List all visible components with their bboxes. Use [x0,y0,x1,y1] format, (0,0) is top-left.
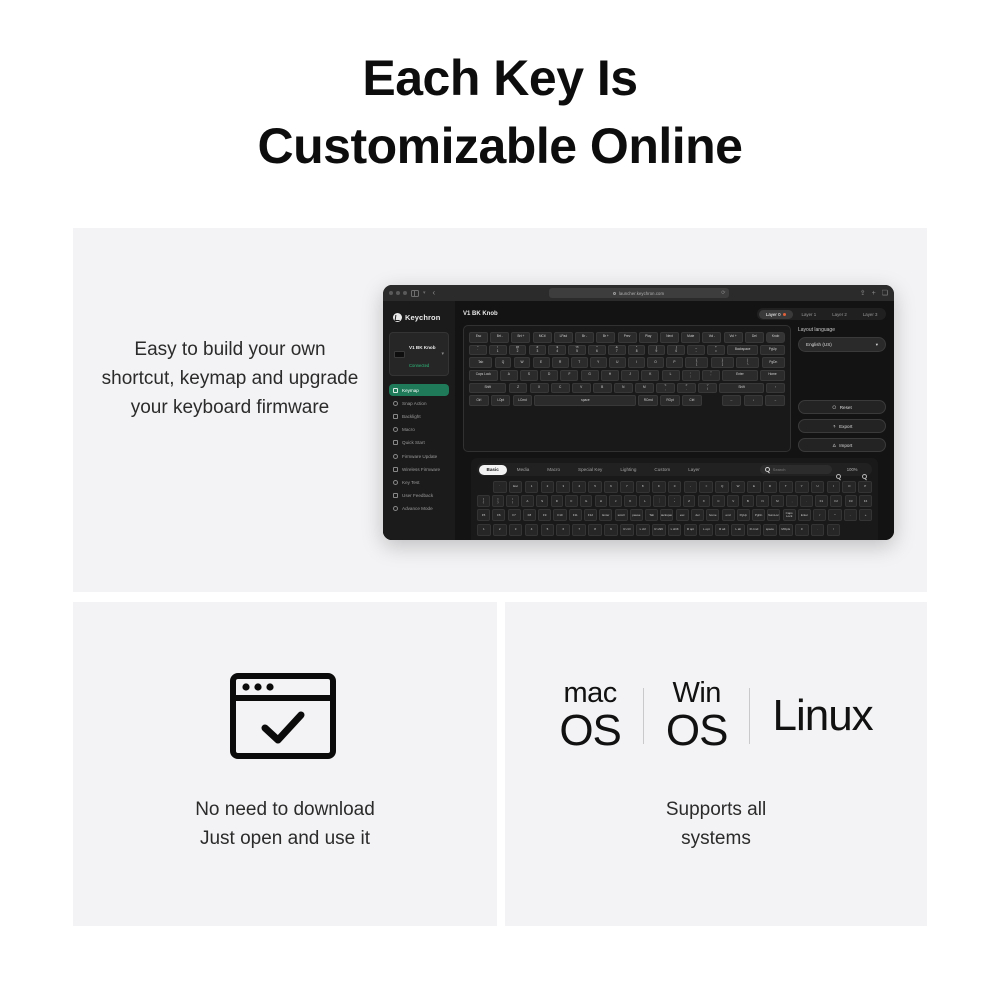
key-legend: Q [721,485,723,488]
key-picker-key[interactable]: U [811,481,825,493]
key-legend: Br - [582,335,587,339]
key-picker-key[interactable]: E [747,481,761,493]
key-picker-key[interactable]: Tab [645,509,658,521]
keyboard-key[interactable]: Home [760,370,785,381]
brand-name: Keychron [405,313,440,322]
refresh-icon[interactable]: ⟳ [721,290,725,296]
layer-tab-label: Layer 0 [766,312,781,317]
key-legend: 7 [626,485,628,488]
key-picker-key[interactable]: G [580,495,593,507]
key-picker-key[interactable]: . [811,524,825,536]
brand: Keychron [389,309,449,330]
key-picker-key[interactable]: 1 [477,524,491,536]
page-title-line2: Customizable Online [0,112,1000,180]
keyboard-key[interactable]: Brt - [490,332,509,343]
keyboard-key[interactable]: S [520,370,538,381]
key-picker-key[interactable]: F1 [815,495,828,507]
key-picker-tab-lighting[interactable]: Lighting [612,465,644,475]
sidebar-item-label: Backlight [402,414,421,419]
key-legend: ' [711,375,712,379]
sidebar-item-firmware-update[interactable]: Firmware Update [389,450,449,462]
keyboard-key[interactable]: ↓ [744,395,764,406]
key-picker-key[interactable]: 0 [795,524,809,536]
keyboard-key[interactable]: ^6 [588,345,606,356]
key-picker-key[interactable]: scroll [615,509,628,521]
key-legend: | [512,501,513,504]
key-picker-key[interactable]: F7 [508,509,521,521]
key-picker-key[interactable]: / [813,509,826,521]
key-legend: F10 [557,514,562,517]
keyboard-key[interactable]: W [514,357,531,368]
key-picker-key[interactable]: A [521,495,534,507]
keyboard-key[interactable]: _- [687,345,705,356]
key-picker-key[interactable]: Q [715,481,729,493]
keyboard-key[interactable]: !1 [489,345,507,356]
key-picker-key[interactable]: D [551,495,564,507]
key-legend: D [548,373,550,377]
sidebar-item-label: Macro [402,427,415,432]
caption-line: systems [505,824,927,853]
chevron-left-icon[interactable]: ‹ [433,289,436,297]
sidebar-item-advance-mode[interactable]: Advance Mode [389,503,449,515]
keyboard-key[interactable]: LPad [554,332,573,343]
keyboard-key[interactable]: Vol + [724,332,743,343]
key-legend: - [696,350,697,354]
key-picker-key[interactable]: O [842,481,856,493]
key-picker-key[interactable]: 5 [588,481,602,493]
key-picker-tab-media[interactable]: Media [509,465,538,475]
keyboard-key[interactable]: |\ [736,357,759,368]
key-picker-key[interactable]: C [712,495,725,507]
keyboard-key[interactable]: A [500,370,518,381]
key-picker-key[interactable]: 3 [556,481,570,493]
key-legend: 8 [594,528,596,531]
keyboard-key[interactable]: E [533,357,550,368]
key-picker-key[interactable]: , [786,495,799,507]
keyboard-key[interactable]: K [641,370,659,381]
key-picker-row: `Esc1234567890-=QWERTYUIOP [477,481,872,493]
zoom-in-icon[interactable] [862,466,869,473]
key-legend: I [833,485,834,488]
key-picker-key[interactable]: Enter [798,509,811,521]
keyboard-key[interactable]: C [551,383,570,394]
import-icon [832,443,837,448]
keyboard-key[interactable]: I [628,357,645,368]
key-picker-key[interactable]: . [800,495,813,507]
key-picker-key[interactable]: L alt [731,524,745,536]
key-picker-key[interactable]: F4 [859,495,872,507]
key-picker-key[interactable]: F8 [523,509,536,521]
layer-tab-0[interactable]: Layer 0 [759,310,793,319]
key-picker-key[interactable]: end [722,509,735,521]
wireless-icon [393,467,398,472]
key-picker-key[interactable]: R [763,481,777,493]
key-picker-key[interactable]: 1 [525,481,539,493]
traffic-lights[interactable] [389,291,407,295]
device-selector[interactable]: V1 BK Knob Connected ▾ [389,332,449,376]
layout-language-label: Layout language [798,327,886,333]
key-picker-key[interactable]: ]} [492,495,505,507]
reset-button[interactable]: Reset [798,400,886,414]
keyboard-key[interactable]: }] [711,357,734,368]
keyboard-key[interactable]: Del [745,332,764,343]
keyboard-key[interactable]: V [572,383,591,394]
key-picker-key[interactable]: - [684,481,698,493]
clock-icon [393,454,398,459]
key-picker-key[interactable]: MOpts [779,524,793,536]
key-picker-key[interactable]: L [639,495,652,507]
key-picker-key[interactable]: R shift [652,524,666,536]
key-picker-key[interactable]: 7 [572,524,586,536]
sidebar-icon[interactable] [411,290,419,297]
key-picker-key[interactable]: F10 [553,509,566,521]
layout-language-select[interactable]: English (US) ▾ [798,337,886,352]
key-picker-key[interactable]: T [779,481,793,493]
key-legend: / [707,388,708,392]
key-legend: { [483,501,484,504]
key-picker-key[interactable] [477,481,491,493]
key-legend: Ctrl [476,399,481,403]
keyboard-key[interactable]: G [581,370,599,381]
keyboard-key[interactable]: D [540,370,558,381]
keyboard-key[interactable]: "' [702,370,720,381]
key-picker-key[interactable]: - [844,509,857,521]
feature-card-os-support [505,602,927,926]
main-header: V1 BK Knob Layer 0Layer 1Layer 2Layer 3 [463,308,886,320]
tabs-icon[interactable]: ❏ [882,289,888,297]
key-picker-key[interactable]: F3 [845,495,858,507]
key-picker-key[interactable]: V [727,495,740,507]
sidebar-item-quick-start[interactable]: Quick Start [389,437,449,449]
key-legend: = [715,350,717,354]
layer-tab-1[interactable]: Layer 1 [795,310,824,319]
key-picker-key[interactable]: home [706,509,719,521]
keyboard-key[interactable]: Brt + [511,332,530,343]
keyboard-key[interactable]: MCtl [533,332,552,343]
key-legend: Enter [801,514,808,517]
key-legend: O [654,361,656,365]
key-picker-key[interactable]: Enter [599,509,612,521]
key-picker-key[interactable]: ` [493,481,507,493]
key-legend: F3 [849,500,853,503]
key-picker-key[interactable]: M [771,495,784,507]
key-legend: 6 [562,528,564,531]
key-picker-tab-special-key[interactable]: Special Key [570,465,610,475]
chevron-down-icon[interactable]: ▾ [441,351,444,357]
key-legend: K [649,373,651,377]
keyboard-key[interactable]: N [614,383,633,394]
key-legend: V [580,386,582,390]
keyboard-key[interactable]: X [530,383,549,394]
search-input[interactable]: Search [760,465,832,474]
keyboard-key[interactable]: Q [495,357,512,368]
key-picker-tab-custom[interactable]: Custom [646,465,678,475]
keyboard-key[interactable]: Enter [722,370,758,381]
key-legend: Shift [485,386,491,390]
key-picker-key[interactable]: 4 [572,481,586,493]
key-legend: , [665,388,666,392]
key-picker-key[interactable]: * [828,509,841,521]
keyboard-key[interactable]: Vol - [702,332,721,343]
key-legend: Mute [687,335,694,339]
keyboard-key[interactable]: Ctrl [469,395,489,406]
keyboard-key[interactable]: Br + [596,332,615,343]
key-legend: X [538,386,540,390]
keyboard-key[interactable]: space [534,395,636,406]
keyboard-key[interactable]: PgDn [762,357,785,368]
key-picker-key[interactable]: H [595,495,608,507]
key-legend: 8 [636,350,638,354]
address-bar[interactable]: launcher.keychron.com ⟳ [549,288,729,298]
key-legend: H [609,373,611,377]
import-button[interactable]: Import [798,438,886,452]
key-picker-key[interactable]: B [742,495,755,507]
key-legend: G [588,373,590,377]
key-picker-key[interactable]: N [756,495,769,507]
keyboard-key[interactable]: PgUp [760,345,784,356]
key-picker-key[interactable]: F2 [830,495,843,507]
key-picker-key[interactable]: R alt [715,524,729,536]
keyboard-key[interactable]: <, [656,383,675,394]
keyboard-row: EscBrt -Brt +MCtlLPadBr -Br +PrevPlayNex… [469,332,785,343]
key-legend: scroll [618,514,625,517]
key-picker-key[interactable]: R ctrl [620,524,634,536]
keyboard-key[interactable]: :; [682,370,700,381]
keyboard-key[interactable]: LCmd [513,395,533,406]
key-picker-key[interactable]: Z [683,495,696,507]
key-legend: R cmd [750,528,759,531]
key-legend: / [819,514,820,517]
key-picker-key[interactable]: \| [506,495,519,507]
sidebar-item-user-feedback[interactable]: User Feedback [389,490,449,502]
key-picker-key[interactable]: 2 [541,481,555,493]
export-button[interactable]: Export [798,419,886,433]
keyboard-key[interactable]: Z [509,383,528,394]
key-legend: Br + [603,335,609,339]
key-legend: O [848,485,850,488]
key-picker-key[interactable]: 2 [493,524,507,536]
layer-tab-2[interactable]: Layer 2 [825,310,854,319]
key-legend: MOpts [781,528,790,531]
key-picker-key[interactable]: K [624,495,637,507]
keyboard-key[interactable]: ← [722,395,742,406]
keyboard-key[interactable]: Play [639,332,658,343]
keyboard-key[interactable]: H [601,370,619,381]
keyboard-key[interactable]: Backspace [727,345,758,356]
key-picker-key[interactable]: 6 [556,524,570,536]
sidebar-item-backlight[interactable]: Backlight [389,410,449,422]
key-legend: ↓ [753,399,755,403]
key-picker-key[interactable]: 8 [588,524,602,536]
keyboard-key[interactable]: R [552,357,569,368]
key-picker-key[interactable]: 9 [604,524,618,536]
key-picker-key[interactable]: L opt [699,524,713,536]
key-picker-row: F5F6F7F8F9F10F11F12EnterscrollpauseTabBa… [477,509,872,521]
key-picker-key[interactable]: 3 [509,524,523,536]
key-picker-key[interactable]: P [858,481,872,493]
key-picker-key[interactable]: F12 [584,509,597,521]
key-legend: R ctrl [623,528,630,531]
caption-line: No need to download [73,795,497,824]
key-picker-key[interactable]: I [827,481,841,493]
snap-icon [393,401,398,406]
key-picker-key[interactable]: F5 [477,509,490,521]
keyboard-key[interactable]: Mute [681,332,700,343]
key-picker-key[interactable]: J [609,495,622,507]
keyboard-key[interactable]: P [666,357,683,368]
keyboard-key[interactable]: LOpt [491,395,511,406]
key-picker-key[interactable]: F11 [569,509,582,521]
key-legend: PgDn [755,514,763,517]
keyboard-key[interactable]: Esc [469,332,488,343]
key-picker-key[interactable]: F [565,495,578,507]
key-picker-key[interactable]: PgDn [752,509,765,521]
key-picker-grid[interactable]: `Esc1234567890-=QWERTYUIOP[{]}\|A SDFGHJ… [477,481,872,536]
key-picker-key[interactable]: R opt [684,524,698,536]
key-legend: C [717,500,719,503]
keyboard-key[interactable]: )0 [667,345,685,356]
keyboard-key[interactable]: $4 [548,345,566,356]
key-picker-key[interactable]: ;: [653,495,666,507]
key-legend: L [670,373,672,377]
keyboard-key[interactable]: &7 [608,345,626,356]
key-picker-key[interactable]: / [827,524,841,536]
key-picker-key[interactable]: PgUp [737,509,750,521]
key-picker-key[interactable]: S [536,495,549,507]
keyboard-key[interactable]: M [635,383,654,394]
keyboard-key[interactable]: *8 [628,345,646,356]
key-picker-key[interactable]: pause [630,509,643,521]
key-picker-key[interactable]: 6 [604,481,618,493]
keyboard-key[interactable]: F [560,370,578,381]
keyboard-row: Caps LockASDFGHJKL:;"'EnterHome [469,370,785,381]
divider [643,688,644,744]
zoom-icon[interactable] [403,291,407,295]
keyboard-key[interactable]: J [621,370,639,381]
keyboard-key[interactable]: += [707,345,725,356]
key-picker-key[interactable]: NumLock [767,509,780,521]
os-logo-prefix: Win [672,679,720,708]
key-picker-key[interactable]: 8 [636,481,650,493]
key-picker-key[interactable]: Backspace [660,509,673,521]
keyboard-key[interactable]: Br - [575,332,594,343]
key-legend: } [497,501,498,504]
key-picker-key[interactable]: Caps Lock [783,509,796,521]
keyboard-key[interactable]: L [662,370,680,381]
keyboard-key[interactable]: {[ [685,357,708,368]
key-legend: esc [680,514,685,517]
keyboard-key[interactable]: T [571,357,588,368]
os-logo-name: Linux [772,694,872,738]
key-legend: 5 [576,350,578,354]
key-picker-key[interactable]: L shift [668,524,682,536]
key-picker-key[interactable]: W [731,481,745,493]
sidebar-item-keymap[interactable]: Keymap [389,384,449,396]
share-icon[interactable]: ⇪ [860,289,866,297]
key-picker-key[interactable]: F9 [538,509,551,521]
key-picker-key[interactable]: + [859,509,872,521]
keyboard-preview[interactable]: EscBrt -Brt +MCtlLPadBr -Br +PrevPlayNex… [463,325,791,452]
key-picker-key[interactable]: F6 [492,509,505,521]
keyboard-key[interactable]: B [593,383,612,394]
keyboard-key[interactable]: ↑ [766,383,785,394]
close-icon[interactable] [389,291,393,295]
chevron-down-icon[interactable]: ▾ [423,291,426,296]
key-picker-key[interactable] [858,524,872,536]
key-picker-key[interactable]: R cmd [747,524,761,536]
key-picker-key[interactable]: Y [795,481,809,493]
key-picker-key[interactable]: 4 [525,524,539,536]
keyboard-key[interactable]: Y [590,357,607,368]
keyboard-key[interactable]: >. [677,383,696,394]
keyboard-key[interactable]: Shift [469,383,506,394]
lock-icon [613,292,616,295]
key-picker-tab-layer[interactable]: Layer [680,465,708,475]
sidebar-item-wireless-firmware[interactable]: Wireless Firmware [389,463,449,475]
sidebar-item-macro[interactable]: Macro [389,424,449,436]
keyboard-key[interactable]: O [647,357,664,368]
key-picker-tab-basic[interactable]: Basic [479,465,507,475]
key-picker-key[interactable]: 9 [652,481,666,493]
os-logo: macOS [559,679,621,753]
keyboard-key[interactable]: (9 [648,345,666,356]
sidebar-item-snap-action[interactable]: Snap Action [389,397,449,409]
keyboard-key[interactable]: Ctrl [682,395,702,406]
device-name: V1 BK Knob [409,345,436,350]
keyboard-key[interactable]: %5 [568,345,586,356]
key-picker-key[interactable]: L ctrl [636,524,650,536]
zoom-out-icon[interactable] [836,466,843,473]
launcher-app: Keychron V1 BK Knob Connected ▾ KeymapSn… [383,301,894,540]
key-legend: L [644,500,646,503]
key-picker-key[interactable]: 7 [620,481,634,493]
keyboard-key[interactable]: Prev [618,332,637,343]
key-picker-key[interactable]: '" [668,495,681,507]
keyboard-key[interactable]: → [765,395,785,406]
key-picker-key[interactable]: X [698,495,711,507]
keyboard-key[interactable]: Next [660,332,679,343]
keyboard-key[interactable]: ~` [469,345,487,356]
keyboard-key[interactable]: Caps Lock [469,370,498,381]
key-picker-key[interactable]: Esc [509,481,523,493]
keyboard-key[interactable]: @2 [509,345,527,356]
key-picker-key[interactable]: = [699,481,713,493]
key-legend: E [753,485,755,488]
keyboard-key[interactable]: RCmd [638,395,658,406]
keyboard-key[interactable]: #3 [529,345,547,356]
key-picker-key[interactable]: 5 [541,524,555,536]
keyboard-key[interactable]: Shift [719,383,764,394]
key-picker-key[interactable]: del [691,509,704,521]
key-picker-key[interactable]: [{ [477,495,490,507]
sidebar-item-key-test[interactable]: Key Test [389,476,449,488]
key-picker-key[interactable]: esc [676,509,689,521]
key-picker-key[interactable]: space [763,524,777,536]
minimize-icon[interactable] [396,291,400,295]
key-picker-key[interactable] [842,524,856,536]
key-picker-key[interactable]: 0 [668,481,682,493]
plus-icon[interactable]: + [872,290,876,297]
keyboard-key[interactable]: Tab [469,357,492,368]
keyboard-key[interactable]: ROpt [660,395,680,406]
key-legend: del [695,514,699,517]
key-picker-tab-macro[interactable]: Macro [539,465,568,475]
keyboard-key[interactable]: U [609,357,626,368]
keyboard-key[interactable]: Knob [766,332,785,343]
layer-tab-3[interactable]: Layer 3 [856,310,885,319]
keyboard-key[interactable]: ?/ [698,383,717,394]
key-legend: Y [801,485,803,488]
